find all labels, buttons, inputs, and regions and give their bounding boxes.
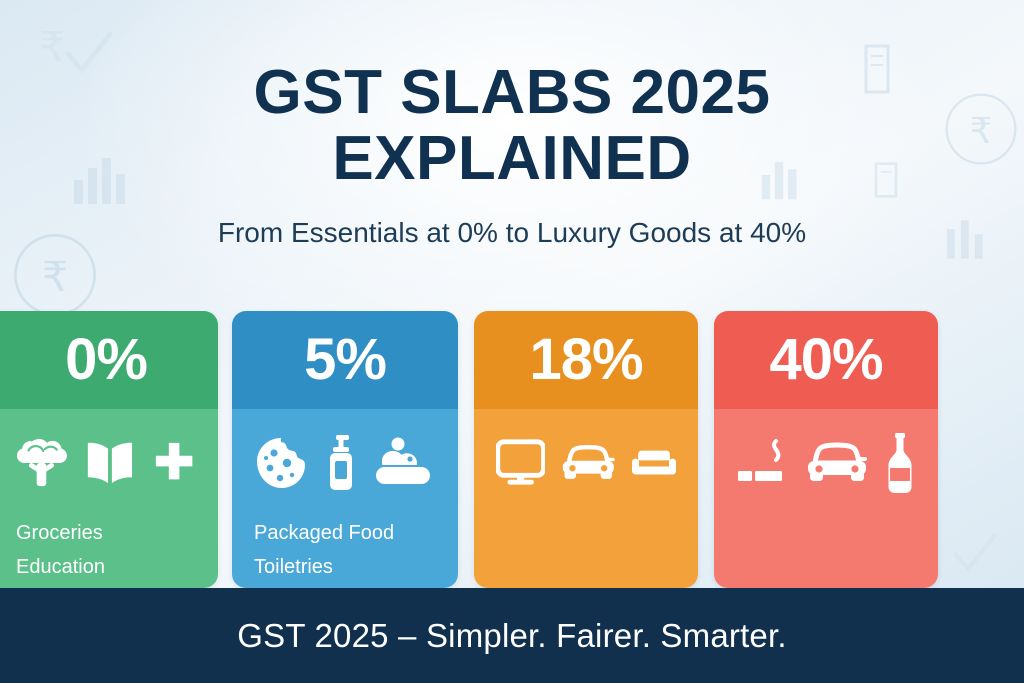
slab-card-3[interactable]: 40% xyxy=(714,311,938,588)
cigarette-icon xyxy=(736,435,790,491)
slab-card-0[interactable]: 0% xyxy=(0,311,218,588)
slab-rate: 0% xyxy=(65,331,147,389)
sofa-icon xyxy=(632,445,676,481)
slab-card-1[interactable]: 5% xyxy=(232,311,458,588)
slab-rate: 40% xyxy=(769,331,882,389)
slab-icon-row xyxy=(736,431,916,495)
broccoli-icon xyxy=(16,434,68,492)
slab-card-grid: 0% xyxy=(0,311,1024,588)
monitor-icon xyxy=(496,437,545,489)
page-title: GST SLABS 2025 EXPLAINED xyxy=(102,60,922,191)
slab-card-body xyxy=(474,409,698,588)
slab-card-header: 5% xyxy=(232,311,458,409)
slab-rate: 5% xyxy=(304,331,386,389)
slab-label: Groceries xyxy=(16,517,196,551)
car-icon xyxy=(806,441,868,485)
slab-label-list: Groceries Education xyxy=(16,517,196,584)
slab-label: Toiletries xyxy=(254,551,436,585)
slab-label-list: Packaged Food Toiletries xyxy=(254,517,436,584)
pump-bottle-icon xyxy=(324,434,358,492)
book-icon xyxy=(84,438,136,488)
slab-rate: 18% xyxy=(529,331,642,389)
slab-card-2[interactable]: 18% xyxy=(474,311,698,588)
slab-label: Packaged Food xyxy=(254,517,436,551)
slab-icon-row xyxy=(254,431,436,495)
header-block: GST SLABS 2025 EXPLAINED From Essentials… xyxy=(0,0,1024,300)
slab-icon-row xyxy=(496,431,676,495)
slab-card-header: 18% xyxy=(474,311,698,409)
slab-label: Education xyxy=(16,551,196,585)
slab-card-header: 40% xyxy=(714,311,938,409)
slab-card-body xyxy=(714,409,938,588)
soap-bar-icon xyxy=(374,437,432,489)
medical-cross-icon xyxy=(152,440,196,486)
slab-card-body: Packaged Food Toiletries xyxy=(232,409,458,588)
footer-tagline: GST 2025 – Simpler. Fairer. Smarter. xyxy=(237,617,786,655)
car-icon xyxy=(561,441,616,485)
page-subtitle: From Essentials at 0% to Luxury Goods at… xyxy=(218,217,806,249)
slab-card-header: 0% xyxy=(0,311,218,409)
slab-icon-row xyxy=(16,431,196,495)
cookie-icon xyxy=(254,436,308,490)
slab-card-body: Groceries Education xyxy=(0,409,218,588)
infographic-canvas: ₹ ₹ ₹ xyxy=(0,0,1024,683)
footer-banner: GST 2025 – Simpler. Fairer. Smarter. xyxy=(0,588,1024,683)
liquor-bottle-icon xyxy=(884,432,916,494)
